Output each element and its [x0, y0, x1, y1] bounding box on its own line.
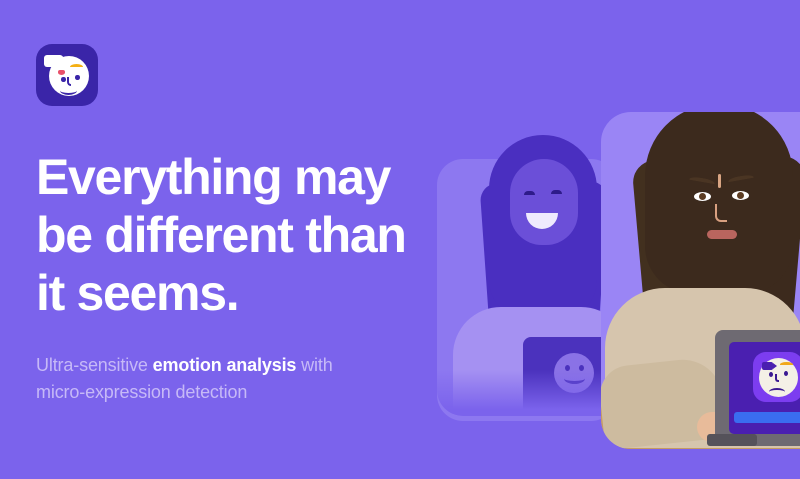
- eye-right: [551, 190, 562, 194]
- subtitle: Ultra-sensitive emotion analysis with mi…: [36, 352, 386, 406]
- eye-right: [732, 191, 749, 200]
- logo-nose: [67, 77, 71, 86]
- promo-banner: Everything may be different than it seem…: [0, 0, 800, 479]
- mouth: [707, 230, 737, 239]
- eye-left: [524, 191, 535, 195]
- eyebrow-accent-icon: [70, 64, 83, 70]
- eye-left: [694, 192, 711, 201]
- face: [510, 159, 578, 245]
- frown-mouth-icon: [769, 388, 785, 396]
- hair-top: [645, 112, 793, 294]
- icon-eye-left: [769, 372, 773, 377]
- photo-fade-overlay: [437, 370, 627, 416]
- nose: [715, 204, 727, 222]
- duotone-photo-happy-woman: [437, 131, 627, 416]
- video-camera-icon: [762, 362, 773, 370]
- icon-eye-right: [784, 371, 788, 376]
- icon-nose: [775, 374, 779, 382]
- subtitle-emphasis: emotion analysis: [153, 355, 297, 375]
- brow-furrow: [718, 174, 721, 188]
- logo-eye-right: [75, 75, 80, 80]
- color-photo-concerned-woman: [601, 112, 800, 449]
- screen-progress-bar: [734, 412, 800, 423]
- logo-smile: [60, 86, 77, 95]
- subtitle-lead: Ultra-sensitive: [36, 355, 153, 375]
- app-logo[interactable]: [36, 44, 98, 106]
- laptop-trackpad: [707, 434, 757, 446]
- page-title: Everything may be different than it seem…: [36, 148, 406, 322]
- banner-content: Everything may be different than it seem…: [36, 44, 436, 406]
- eyebrow-accent-icon: [780, 362, 793, 367]
- video-camera-icon: [44, 55, 63, 67]
- logo-eye-left: [61, 77, 66, 82]
- blush-mark-icon: [58, 70, 65, 75]
